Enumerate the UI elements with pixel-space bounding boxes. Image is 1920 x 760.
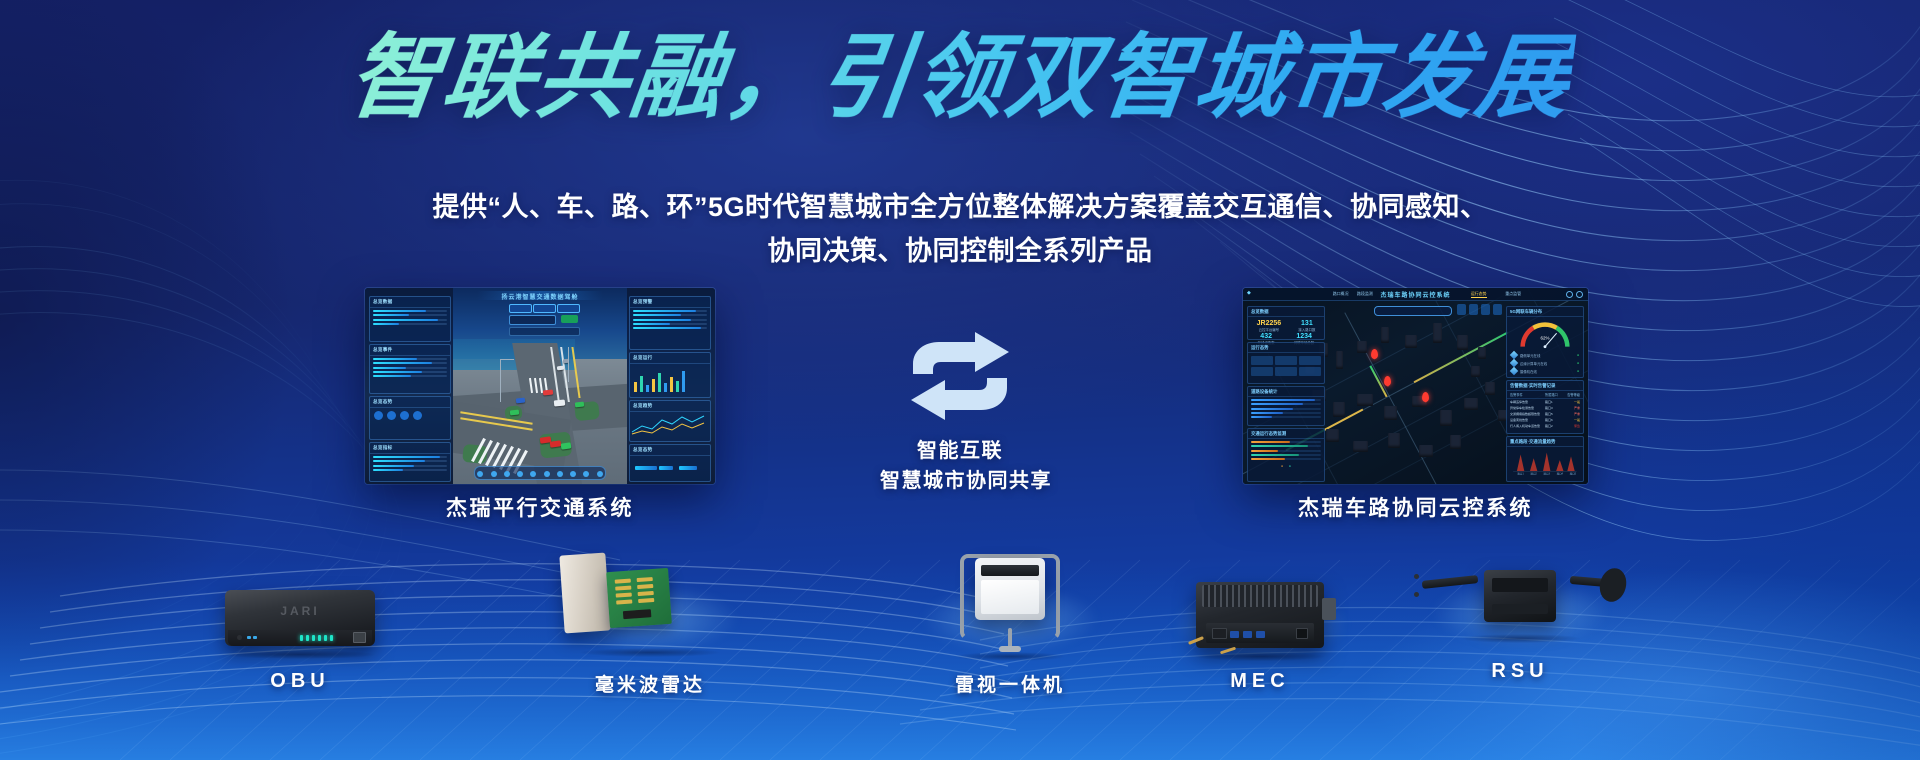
- exchange-caption: 智能互联 智慧城市协同共享: [880, 436, 1040, 496]
- fullscreen-icon[interactable]: [1576, 291, 1583, 298]
- subtitle-line-1: 提供“人、车、路、环”5G时代智慧城市全方位整体解决方案覆盖交互通信、协同感知、: [0, 186, 1920, 230]
- panel-title: 交通运行态势监测: [1248, 429, 1324, 439]
- panel-title: 总览态势: [630, 445, 710, 456]
- panel-title: 总览态势: [370, 397, 450, 408]
- screenshot-parallel-traffic-system[interactable]: 扬云港智慧交通数据驾舱: [365, 288, 715, 484]
- product-lidar-camera[interactable]: 雷视一体机: [890, 548, 1130, 697]
- kpi-label: 云控平台编号: [1257, 327, 1282, 332]
- map-filter-people-icon[interactable]: [1457, 304, 1466, 315]
- panel-title: 总览预警: [630, 297, 710, 308]
- product-mmwave-radar[interactable]: 毫米波雷达: [530, 548, 770, 697]
- panel-title: 总览数据: [370, 297, 450, 308]
- panel-title: 总览指标: [370, 443, 450, 454]
- right-panel-traffic-monitor[interactable]: 交通运行态势监测 ● ●: [1247, 428, 1325, 482]
- product-label-mmwave-radar: 毫米波雷达: [530, 670, 770, 697]
- table-row[interactable]: 行人闯入机动车道告警 路口2 紧急: [1507, 423, 1583, 429]
- kpi-value: 131: [1298, 320, 1315, 327]
- intersection-3d-scene: 扬云港智慧交通数据驾舱: [453, 288, 627, 484]
- panel-title: 总览运行: [630, 353, 710, 364]
- product-image-mec: [1140, 560, 1380, 670]
- obu-device: JARI: [225, 590, 375, 646]
- product-label-obu: OBU: [180, 670, 420, 693]
- product-mec[interactable]: MEC: [1140, 560, 1380, 693]
- panel-title: 5G网联车辆分布: [1507, 307, 1583, 317]
- kpi-value: JR2256: [1257, 320, 1282, 327]
- left-panel-overview-operation[interactable]: 总览运行: [629, 352, 711, 398]
- svg-text:路口2: 路口2: [1531, 472, 1538, 475]
- alarm-col-event: 告警事件: [1510, 392, 1545, 397]
- svg-text:62%: 62%: [1541, 335, 1550, 340]
- road-index-gauge: 62%: [1510, 318, 1580, 352]
- screenshot-cloud-control-system[interactable]: 杰瑞车路协同云控系统 ◆ 路口概况 路段监测 运行态势 重点监管 总览数据: [1243, 288, 1588, 484]
- page-title: 智联共融，引领双智城市发展: [343, 28, 1577, 127]
- mec-device: [1196, 582, 1324, 648]
- left-panel-overview-trend[interactable]: 总览趋势: [629, 400, 711, 442]
- caption-parallel-traffic-system: 杰瑞平行交通系统: [365, 492, 715, 522]
- caption-cloud-control-system: 杰瑞车路协同云控系统: [1243, 492, 1588, 522]
- panel-title: 告警数据·实时告警记录: [1507, 381, 1583, 391]
- left-panel-overview-status[interactable]: 总览态势: [629, 444, 711, 482]
- settings-icon[interactable]: [1566, 291, 1573, 298]
- camera-body: [975, 558, 1045, 620]
- kpi-value: 432: [1258, 333, 1275, 340]
- trend-sparkline: [630, 412, 706, 436]
- right-screen-logo: ◆: [1247, 290, 1251, 296]
- alarm-col-level: 告警等级: [1563, 392, 1581, 397]
- device-row-label: 路侧单元在线: [1520, 353, 1540, 358]
- panel-title: 总览数据: [1248, 307, 1324, 317]
- map-filter-road-icon[interactable]: [1481, 304, 1490, 315]
- exchange-line-2: 智慧城市协同共享: [880, 466, 1040, 496]
- promo-banner: 智联共融，引领双智城市发展 提供“人、车、路、环”5G时代智慧城市全方位整体解决…: [0, 0, 1920, 760]
- product-image-rsu: [1400, 548, 1640, 660]
- flow-trend-chart: 路口1 路口2 路口3 路口4 路口5: [1507, 447, 1579, 475]
- exchange-arrows-icon: [905, 330, 1015, 422]
- left-screen-title: 扬云港智慧交通数据驾舱: [453, 292, 627, 301]
- exchange-line-1: 智能互联: [880, 436, 1040, 466]
- obu-brand-label: JARI: [225, 604, 375, 618]
- panel-title: 总览事件: [370, 345, 450, 356]
- product-image-lidar-camera: [890, 548, 1130, 670]
- radar-enclosure: [559, 552, 610, 633]
- rsu-device: [1484, 570, 1556, 622]
- left-panel-overview-situation[interactable]: 总览态势: [369, 396, 451, 440]
- panel-title: 道路设备统计: [1248, 387, 1324, 397]
- right-panel-device-stats[interactable]: 道路设备统计: [1247, 386, 1325, 426]
- right-panel-5g-vehicles[interactable]: 5G网联车辆分布 62% 路侧单元在线 ●: [1506, 306, 1584, 378]
- right-panel-overview-data[interactable]: 总览数据 JR2256 云控平台编号 131 接入路口数 432 在线设备数: [1247, 306, 1325, 340]
- headline-area: 智联共融，引领双智城市发展: [0, 28, 1920, 127]
- left-panel-overview-events[interactable]: 总览事件: [369, 344, 451, 394]
- right-panel-flow-trend[interactable]: 重点路段·交通流量趋势 路口1 路口2 路口3 路口4 路口5: [1506, 436, 1584, 482]
- product-label-rsu: RSU: [1400, 660, 1640, 683]
- kpi-label: 接入路口数: [1298, 327, 1315, 332]
- exchange-area: 智能互联 智慧城市协同共享: [880, 330, 1040, 496]
- map-search-input[interactable]: [1374, 306, 1452, 316]
- right-screen-title: 杰瑞车路协同云控系统: [1243, 290, 1588, 299]
- tab-road-monitor[interactable]: 路段监测: [1357, 291, 1373, 297]
- map-filter-cloud-icon[interactable]: [1493, 304, 1502, 315]
- subtitle: 提供“人、车、路、环”5G时代智慧城市全方位整体解决方案覆盖交互通信、协同感知、…: [0, 186, 1920, 273]
- product-label-lidar-camera: 雷视一体机: [890, 670, 1130, 697]
- map-pin-alert-1[interactable]: [1371, 349, 1378, 359]
- radar-pcb: [606, 568, 672, 628]
- panel-title: 总览趋势: [630, 401, 710, 412]
- subtitle-line-2: 协同决策、协同控制全系列产品: [0, 230, 1920, 274]
- right-panel-alarm-records[interactable]: 告警数据·实时告警记录 告警事件 所属路口 告警等级 车辆违停告警 路口1 一般…: [1506, 380, 1584, 434]
- svg-text:路口3: 路口3: [1544, 472, 1551, 475]
- kpi-value: 1234: [1294, 333, 1314, 340]
- tab-intersection[interactable]: 路口概况: [1333, 291, 1349, 297]
- device-row-label: 边缘计算单元在线: [1520, 361, 1547, 366]
- product-image-obu: JARI: [180, 560, 420, 670]
- alarm-col-place: 所属路口: [1545, 392, 1563, 397]
- map-filter-vehicle-icon[interactable]: [1469, 304, 1478, 315]
- left-panel-overview-alerts[interactable]: 总览预警: [629, 296, 711, 350]
- svg-text:路口1: 路口1: [1518, 472, 1525, 475]
- product-image-mmwave-radar: [530, 548, 770, 670]
- svg-text:路口5: 路口5: [1570, 472, 1577, 475]
- product-rsu[interactable]: RSU: [1400, 548, 1640, 683]
- device-row-label: 摄像机在线: [1520, 369, 1537, 374]
- left-panel-overview-data[interactable]: 总览数据: [369, 296, 451, 342]
- right-panel-operation-trend[interactable]: 运行态势: [1247, 342, 1325, 384]
- product-obu[interactable]: JARI OBU: [180, 560, 420, 693]
- left-panel-overview-ranking[interactable]: 总览指标: [369, 442, 451, 482]
- camera-mount-base: [999, 646, 1021, 652]
- product-label-mec: MEC: [1140, 670, 1380, 693]
- tab-key-supervision[interactable]: 重点监管: [1505, 291, 1521, 297]
- svg-text:路口4: 路口4: [1557, 472, 1564, 475]
- panel-title: 重点路段·交通流量趋势: [1507, 437, 1583, 447]
- panel-title: 运行态势: [1248, 343, 1324, 353]
- tab-operation-status[interactable]: 运行态势: [1471, 291, 1487, 298]
